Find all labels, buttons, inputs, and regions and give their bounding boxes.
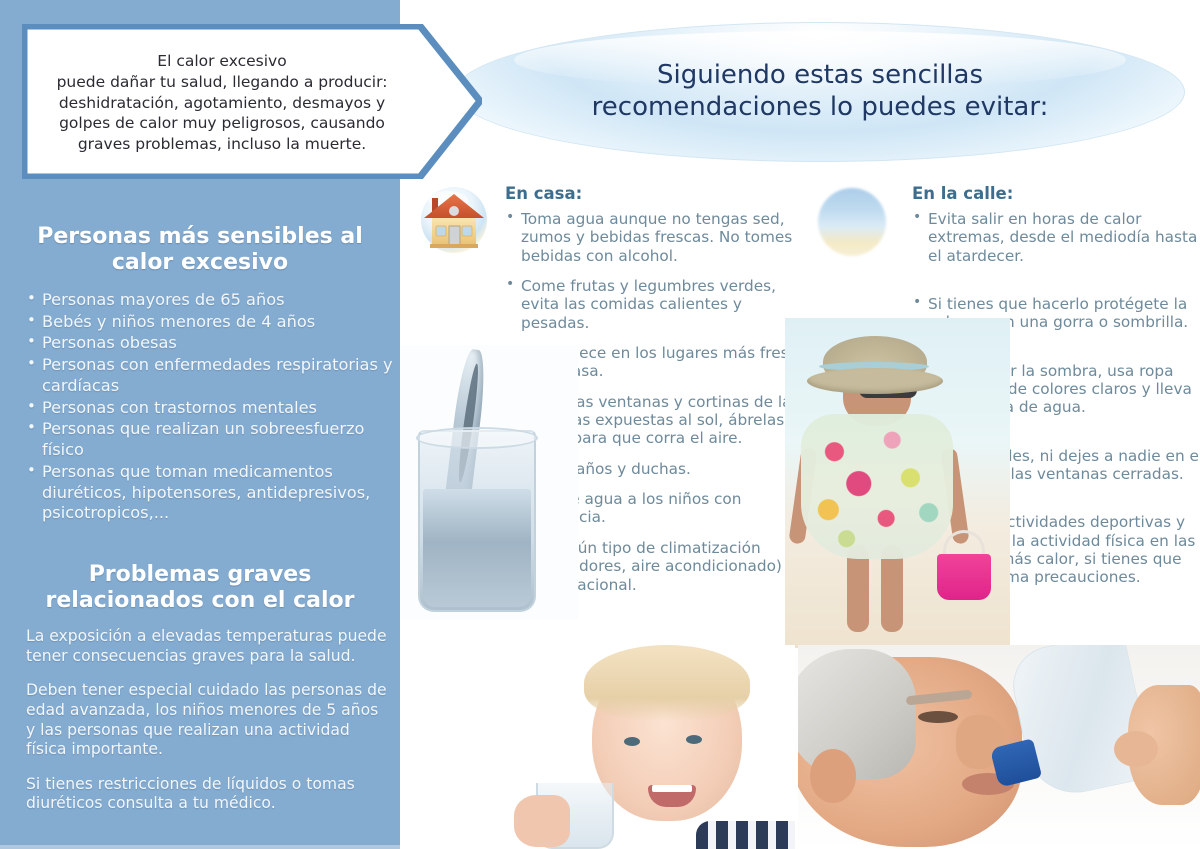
paragraph: Si tienes restricciones de líquidos o to… [26,775,392,814]
glass-body [418,430,536,612]
problemas-title: Problemas graves relacionados con el cal… [20,562,380,613]
list-item: Personas que realizan un sobreesfuerzo f… [26,419,394,460]
list-item: Personas que toman medicamentos diurétic… [26,462,394,524]
callout-line-1: El calor excesivo [157,51,286,72]
toddler-eye-right [686,735,702,744]
callout-line-5: graves problemas, incluso la muerte. [78,134,366,155]
banner-line-1: Siguiendo estas sencillas [592,60,1049,92]
list-item: Personas obesas [26,333,394,354]
helper-thumb [1114,731,1158,767]
callout-line-3: deshidratación, agotamiento, desmayos y [59,93,385,114]
infographic-root: Personas más sensibles al calor excesivo… [0,0,1200,849]
list-item: Personas con trastornos mentales [26,398,394,419]
banner-line-2: recomendaciones lo puedes evitar: [592,92,1049,124]
heat-warning-callout: El calor excesivo puede dañar tu salud, … [22,24,482,179]
paragraph: La exposición a elevadas temperaturas pu… [26,627,392,666]
sensibles-title-line1: Personas más sensibles al [20,224,380,250]
pink-bucket [937,554,991,600]
column-heading-en-casa: En casa: [505,184,815,203]
sensibles-list: Personas mayores de 65 años Bebés y niño… [26,290,394,525]
girl-floral-dress [801,414,953,559]
elderly-man-ear [810,749,856,803]
sensibles-title: Personas más sensibles al calor excesivo [20,224,380,275]
sensibles-title-line2: calor excesivo [20,250,380,276]
list-item: Toma agua aunque no tengas sed, zumos y … [505,210,815,265]
callout-text: El calor excesivo puede dañar tu salud, … [38,42,406,164]
right-content-area: Siguiendo estas sencillas recomendacione… [400,0,1200,849]
callout-line-2: puede dañar tu salud, llegando a produci… [57,72,388,93]
toddler-shirt [696,821,795,849]
glass-water [423,489,531,607]
callout-line-4: golpes de calor muy peligrosos, causando [59,113,385,134]
column-heading-en-la-calle: En la calle: [912,184,1200,203]
list-item: Personas con enfermedades respiratorias … [26,355,394,396]
girl-hat-brim [807,368,943,394]
problemas-paragraphs: La exposición a elevadas temperaturas pu… [26,627,392,829]
toddler-with-glass-photo [500,645,795,849]
recommendations-banner: Siguiendo estas sencillas recomendacione… [455,22,1185,162]
elderly-man-drinking-water-photo [798,645,1200,849]
toddler-hair [584,645,750,721]
glass-of-water-photo [400,345,578,620]
girl-at-beach-photo [785,318,1010,648]
problemas-title-line1: Problemas graves [20,562,380,588]
list-item: Bebés y niños menores de 4 años [26,312,394,333]
house-icon [418,182,490,258]
paragraph: Deben tener especial cuidado las persona… [26,681,392,760]
toddler-eye-left [624,737,640,746]
list-item: Personas mayores de 65 años [26,290,394,311]
toddler-hand [514,795,570,847]
toddler-teeth [652,785,692,792]
glass-rim [416,427,538,449]
list-item: Evita salir en horas de calor extremas, … [912,210,1200,265]
problemas-title-line2: relacionados con el calor [20,588,380,614]
sun-sky-icon [818,188,886,256]
banner-text: Siguiendo estas sencillas recomendacione… [592,60,1049,123]
elderly-man-eye [918,711,958,723]
list-item: Come frutas y legumbres verdes, evita la… [505,277,815,332]
